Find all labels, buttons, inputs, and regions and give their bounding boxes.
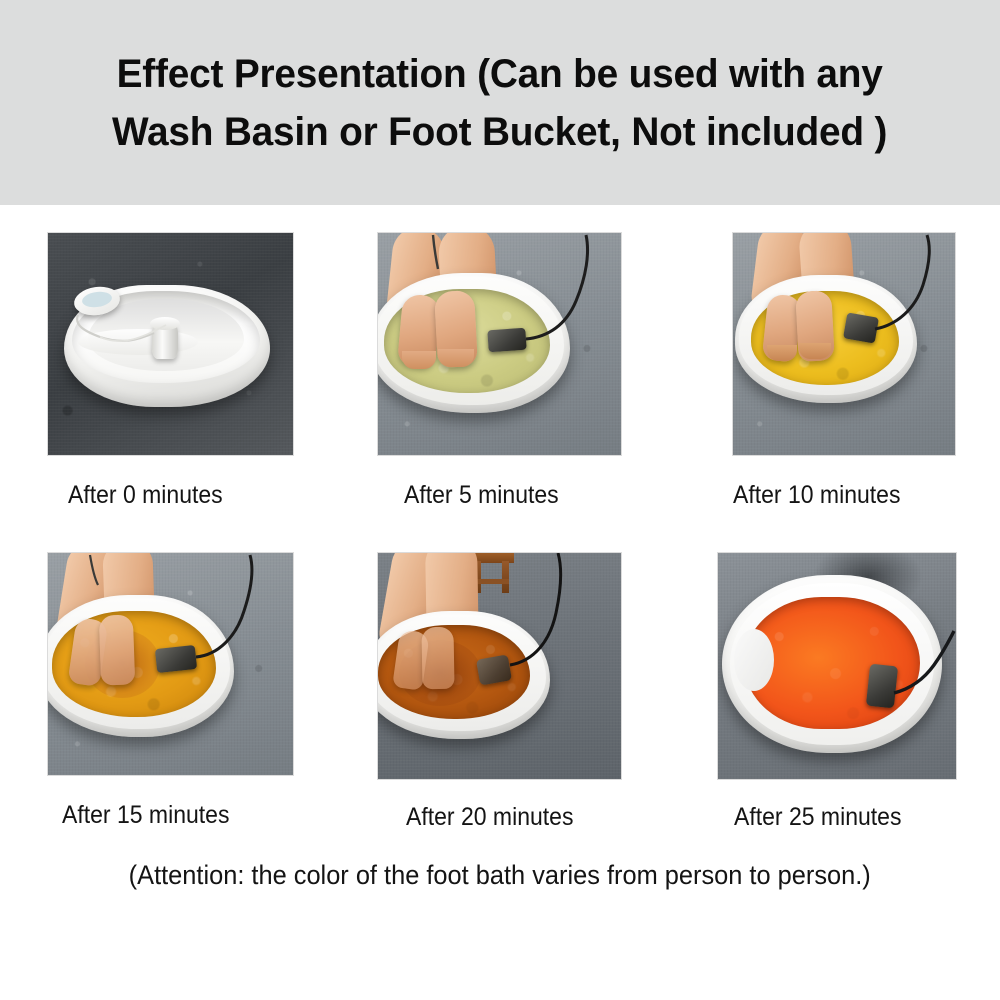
header-banner: Effect Presentation (Can be used with an… — [0, 0, 1000, 205]
photo-scene-empty-basin — [48, 233, 293, 455]
caption-tile-4: After 15 minutes — [62, 801, 229, 830]
power-cable — [48, 233, 293, 455]
photo-scene-10-min — [733, 233, 955, 455]
caption-tile-1: After 0 minutes — [68, 481, 223, 510]
power-cable — [378, 553, 621, 779]
power-cable — [718, 553, 956, 779]
caption-tile-5: After 20 minutes — [406, 803, 573, 832]
page-title-line-2: Wash Basin or Foot Bucket, Not included … — [112, 103, 887, 161]
effect-photo-15-min[interactable] — [48, 553, 293, 775]
attention-note-text: (Attention: the color of the foot bath v… — [129, 860, 871, 891]
page-title: Effect Presentation (Can be used with an… — [74, 45, 927, 161]
caption-tile-3: After 10 minutes — [733, 481, 900, 510]
effect-photo-5-min[interactable] — [378, 233, 621, 455]
caption-tile-2: After 5 minutes — [404, 481, 559, 510]
effect-photo-25-min[interactable] — [718, 553, 956, 779]
photo-scene-15-min — [48, 553, 293, 775]
power-cable — [733, 233, 955, 455]
effect-photo-20-min[interactable] — [378, 553, 621, 779]
photo-scene-20-min — [378, 553, 621, 779]
photo-scene-5-min — [378, 233, 621, 455]
photo-scene-25-min — [718, 553, 956, 779]
effect-photo-0-min[interactable] — [48, 233, 293, 455]
page-title-line-1: Effect Presentation (Can be used with an… — [112, 45, 887, 103]
effect-photo-10-min[interactable] — [733, 233, 955, 455]
attention-note: (Attention: the color of the foot bath v… — [0, 860, 1000, 891]
caption-tile-6: After 25 minutes — [734, 803, 901, 832]
power-cable — [48, 553, 293, 775]
power-cable — [378, 233, 621, 455]
